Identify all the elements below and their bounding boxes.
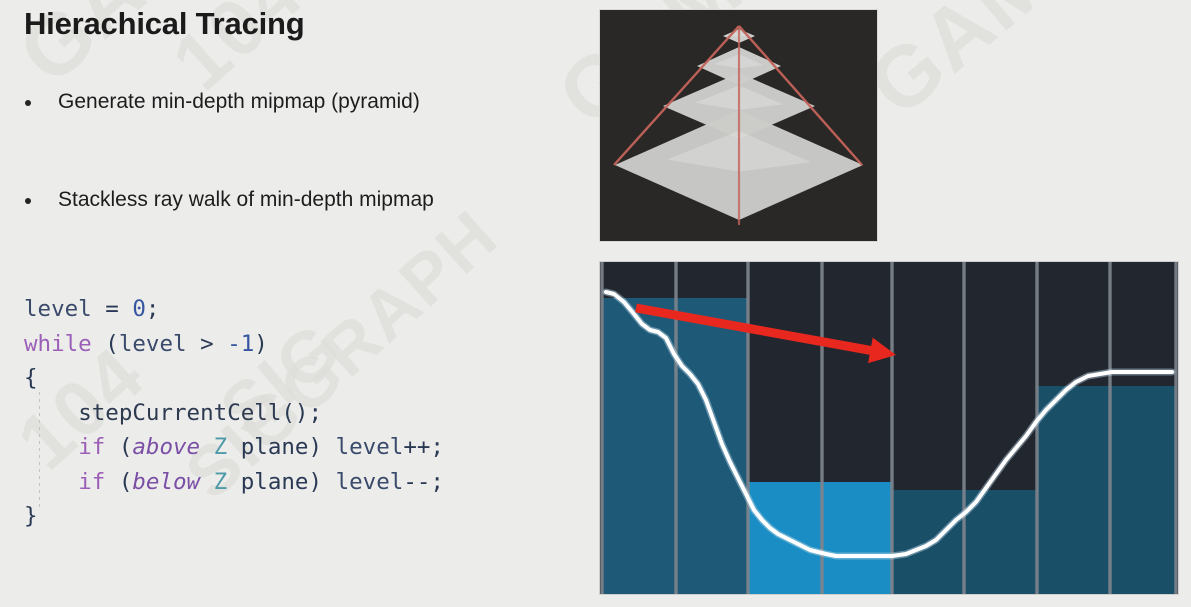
code-token — [92, 296, 106, 322]
code-token — [24, 469, 78, 495]
code-token — [200, 469, 214, 495]
code-token: (); — [281, 400, 322, 426]
bullet-dot-icon — [25, 198, 31, 204]
code-token: level — [336, 469, 404, 495]
code-token: } — [24, 503, 38, 529]
chart-svg — [600, 262, 1178, 594]
bullet-text-1: Generate min-depth mipmap (pyramid) — [58, 90, 420, 113]
hiz-traversal-chart — [600, 262, 1178, 594]
code-token: while — [24, 331, 92, 357]
code-token: ; — [146, 296, 160, 322]
code-line: if (below Z plane) level--; — [24, 465, 444, 500]
bullet-text-2: Stackless ray walk of min-depth mipmap — [58, 188, 434, 211]
code-token: ) — [254, 331, 268, 357]
min-depth-cell — [676, 298, 748, 594]
code-token: level — [24, 296, 92, 322]
code-token: > — [200, 331, 214, 357]
code-token: { — [24, 365, 38, 391]
code-token: below — [132, 469, 200, 495]
code-token: if — [78, 469, 105, 495]
code-token: 0 — [132, 296, 146, 322]
code-token — [119, 296, 133, 322]
code-line: if (above Z plane) level++; — [24, 430, 444, 465]
code-token: plane) — [227, 434, 335, 460]
code-token: ( — [105, 469, 132, 495]
bullet-item-1: Generate min-depth mipmap (pyramid) — [25, 90, 420, 113]
watermark-text: GAMES — [850, 0, 1163, 136]
min-depth-cell — [1110, 386, 1176, 594]
code-token: if — [78, 434, 105, 460]
page-title: Hierachical Tracing — [24, 6, 305, 42]
code-token: Z — [214, 469, 228, 495]
code-token: = — [105, 296, 119, 322]
code-line: while (level > -1) — [24, 327, 444, 362]
code-line: stepCurrentCell(); — [24, 396, 444, 431]
code-token: level — [119, 331, 187, 357]
bullet-dot-icon — [25, 100, 31, 106]
code-token — [24, 434, 78, 460]
code-line: level = 0; — [24, 292, 444, 327]
min-depth-cell — [822, 482, 892, 594]
code-token — [24, 400, 78, 426]
code-token: ( — [105, 434, 132, 460]
code-token: ( — [92, 331, 119, 357]
code-token: level — [336, 434, 404, 460]
code-block: level = 0;while (level > -1){ stepCurren… — [24, 292, 444, 534]
code-token — [200, 434, 214, 460]
code-token — [187, 331, 201, 357]
code-token: plane) — [227, 469, 335, 495]
code-line: { — [24, 361, 444, 396]
slide: GAMES104GAMES 1GAMESSIGSIGGRAPH104 Hiera… — [0, 0, 1191, 607]
pyramid-svg — [600, 10, 877, 241]
code-token: Z — [214, 434, 228, 460]
min-depth-cell — [1037, 386, 1110, 594]
code-token: --; — [403, 469, 444, 495]
code-token — [214, 331, 228, 357]
bullet-item-2: Stackless ray walk of min-depth mipmap — [25, 188, 434, 211]
code-token: ++; — [403, 434, 444, 460]
code-token: stepCurrentCell — [78, 400, 281, 426]
code-token: above — [132, 434, 200, 460]
code-line: } — [24, 499, 444, 534]
code-token: -1 — [227, 331, 254, 357]
mipmap-pyramid-figure — [600, 10, 877, 241]
